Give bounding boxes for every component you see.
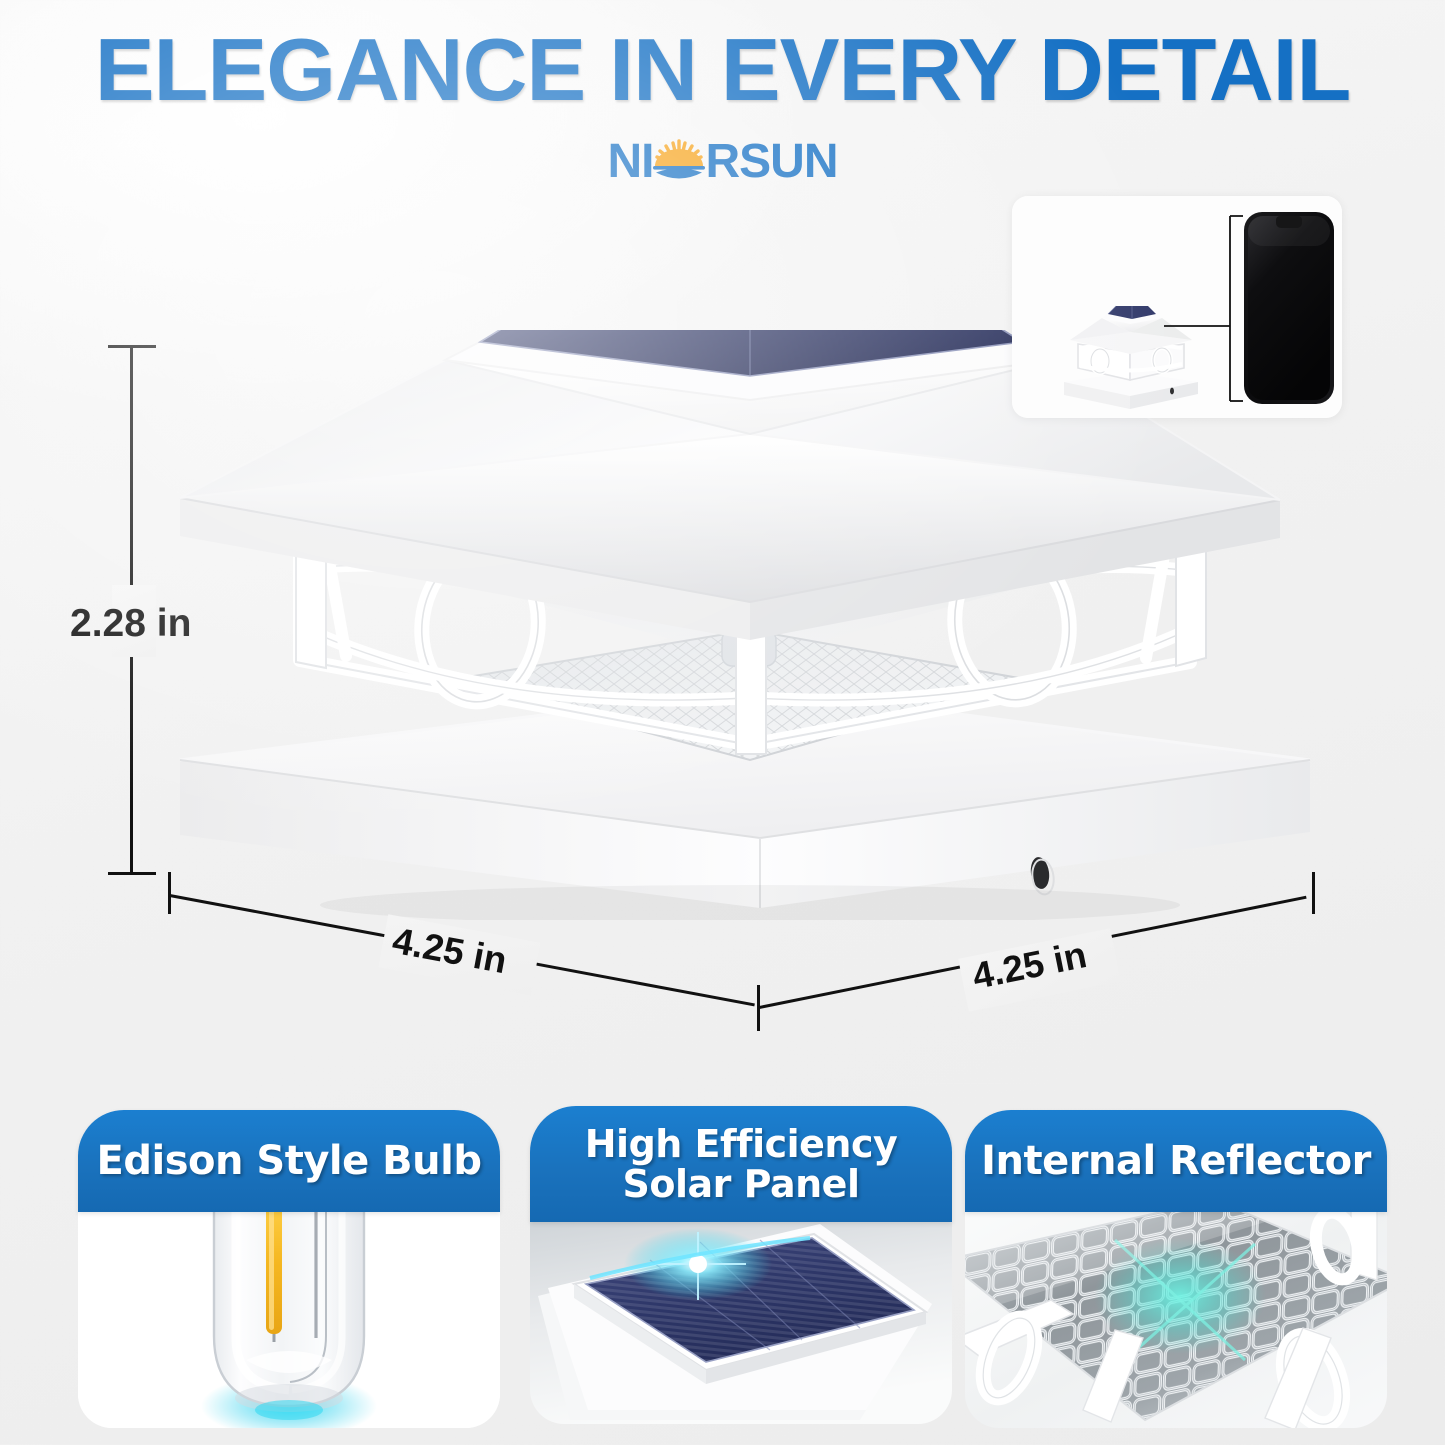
feature-card-image-internal-reflector: [965, 1210, 1387, 1428]
brand-name-suffix: RSUN: [705, 133, 837, 191]
feature-card-edison-style-bulb[interactable]: Edison Style Bulb: [78, 1110, 500, 1428]
brand-logo: NI: [0, 133, 1445, 191]
sunrise-icon: [652, 135, 706, 189]
feature-card-label: High Efficiency Solar Panel: [575, 1124, 908, 1205]
height-dimension-tick-bottom: [108, 872, 156, 875]
product-image-solar-post-cap-light: [150, 330, 1330, 920]
width-right-tick: [1312, 872, 1315, 914]
size-comparison-inset: [1012, 196, 1342, 418]
phone-mockup: [1244, 212, 1334, 404]
feature-card-label: Internal Reflector: [971, 1140, 1381, 1182]
brand-name-prefix: NI: [607, 133, 653, 191]
feature-card-header: Edison Style Bulb: [78, 1110, 500, 1212]
feature-card-label: Edison Style Bulb: [87, 1140, 492, 1182]
feature-card-internal-reflector[interactable]: Internal Reflector: [965, 1110, 1387, 1428]
feature-card-image-edison-bulb: [78, 1210, 500, 1428]
height-dimension-tick-top: [108, 345, 156, 348]
infographic-canvas: ELEGANCE IN EVERY DETAIL NI: [0, 0, 1445, 1445]
height-dimension-label: 2.28 in: [70, 602, 191, 646]
feature-card-image-solar-panel: [530, 1220, 952, 1424]
feature-card-header: Internal Reflector: [965, 1110, 1387, 1212]
feature-card-header: High Efficiency Solar Panel: [530, 1106, 952, 1222]
page-title: ELEGANCE IN EVERY DETAIL: [0, 26, 1445, 114]
feature-card-high-efficiency-solar-panel[interactable]: High Efficiency Solar Panel: [530, 1106, 952, 1424]
